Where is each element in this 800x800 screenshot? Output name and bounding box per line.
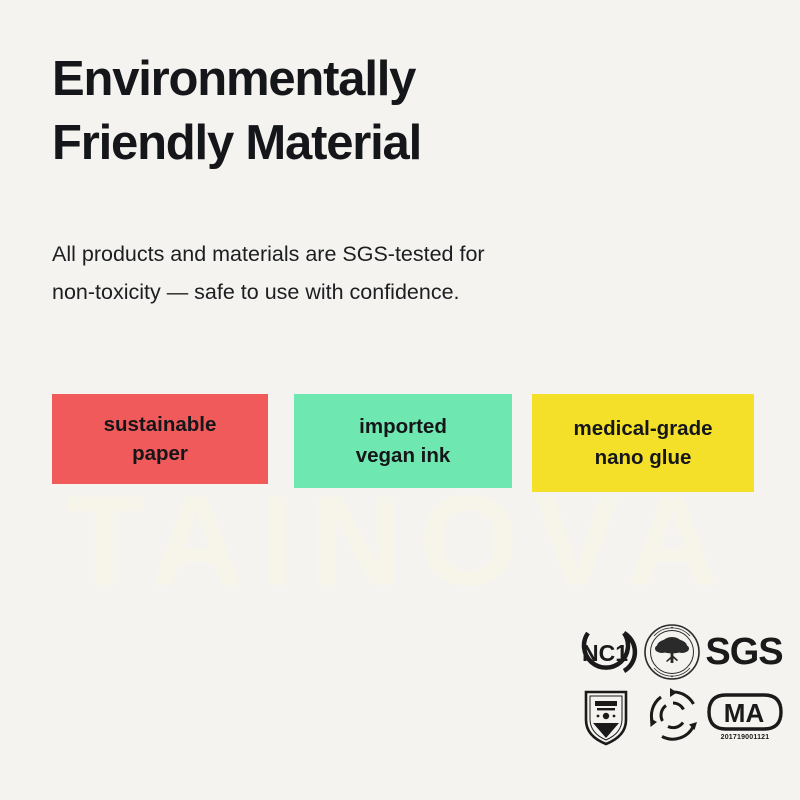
material-chip-label-line-2: vegan ink [356,441,451,470]
page-subtitle-line-2: non-toxicity — safe to use with confiden… [52,273,652,311]
nc1-certification-icon: NC1 [574,624,638,680]
sgs-certification-icon: SGS [706,628,784,676]
material-chip-medical-grade-nano-glue: medical-grade nano glue [532,394,754,492]
svg-text:MA: MA [724,698,765,728]
page-subtitle: All products and materials are SGS-teste… [52,235,652,312]
svg-text:NC1: NC1 [582,640,628,666]
cma-certificate-number: 201719001121 [721,734,770,741]
poster-canvas: TAINOVA Environmentally Friendly Materia… [0,0,800,800]
forest-tree-seal-icon [642,622,702,682]
sgs-label: SGS [705,633,782,671]
brand-watermark: TAINOVA [0,478,800,606]
material-chip-label-line-2: paper [132,439,188,468]
quality-shield-icon [576,686,636,748]
material-chip-imported-vegan-ink: imported vegan ink [294,394,512,488]
page-title-line-1: Environmentally [52,48,692,112]
page-title: Environmentally Friendly Material [52,48,692,175]
recycling-symbol-icon [644,686,702,744]
material-chip-sustainable-paper: sustainable paper [52,394,268,484]
material-chip-label-line-2: nano glue [595,443,692,472]
cma-certification-icon: MA 201719001121 [706,686,784,746]
page-title-line-2: Friendly Material [52,112,692,176]
material-chip-label-line-1: imported [359,412,447,441]
page-subtitle-line-1: All products and materials are SGS-teste… [52,235,652,273]
material-chip-label-line-1: medical-grade [574,414,713,443]
material-chip-label-line-1: sustainable [104,410,217,439]
certification-badge-group: NC1 [574,622,784,748]
